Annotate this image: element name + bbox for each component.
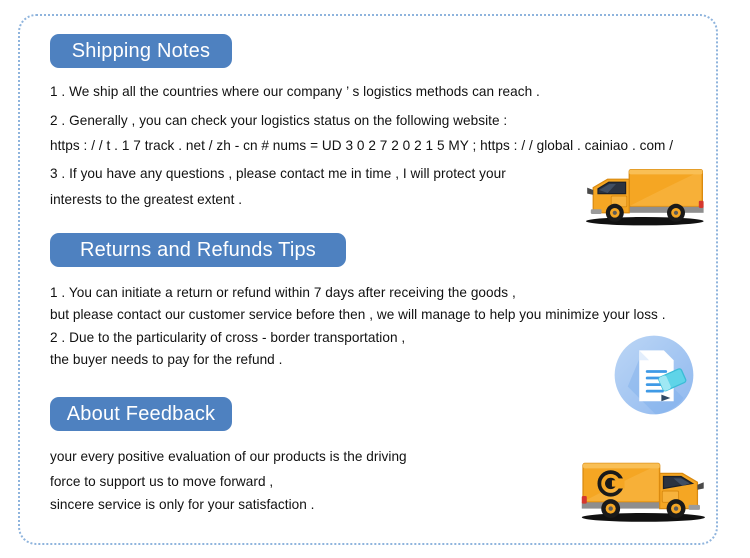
section-heading-returns-and-refunds-tips: Returns and Refunds Tips [50, 233, 346, 267]
shipping-note-line-3-cont: interests to the greatest extent . [50, 192, 242, 207]
returns-line-1: 1 . You can initiate a return or refund … [50, 285, 516, 300]
delivery-truck-icon [580, 166, 706, 226]
refund-document-icon [610, 334, 698, 416]
info-card-page: Shipping Notes 1 . We ship all the count… [0, 0, 750, 558]
section-heading-shipping-notes: Shipping Notes [50, 34, 232, 68]
shipping-note-line-2: 2 . Generally , you can check your logis… [50, 113, 507, 128]
feedback-line-1: your every positive evaluation of our pr… [50, 449, 407, 464]
returns-line-2: 2 . Due to the particularity of cross - … [50, 330, 405, 345]
shipping-note-line-1: 1 . We ship all the countries where our … [50, 84, 540, 99]
returns-line-2-cont: the buyer needs to pay for the refund . [50, 352, 282, 367]
delivery-truck-icon [578, 458, 710, 524]
feedback-line-3: sincere service is only for your satisfa… [50, 497, 315, 512]
returns-line-1-cont: but please contact our customer service … [50, 307, 666, 322]
shipping-tracking-url-line: https : / / t . 1 7 track . net / zh - c… [50, 138, 673, 153]
shipping-note-line-3: 3 . If you have any questions , please c… [50, 166, 506, 181]
section-heading-about-feedback: About Feedback [50, 397, 232, 431]
feedback-line-2: force to support us to move forward , [50, 474, 273, 489]
